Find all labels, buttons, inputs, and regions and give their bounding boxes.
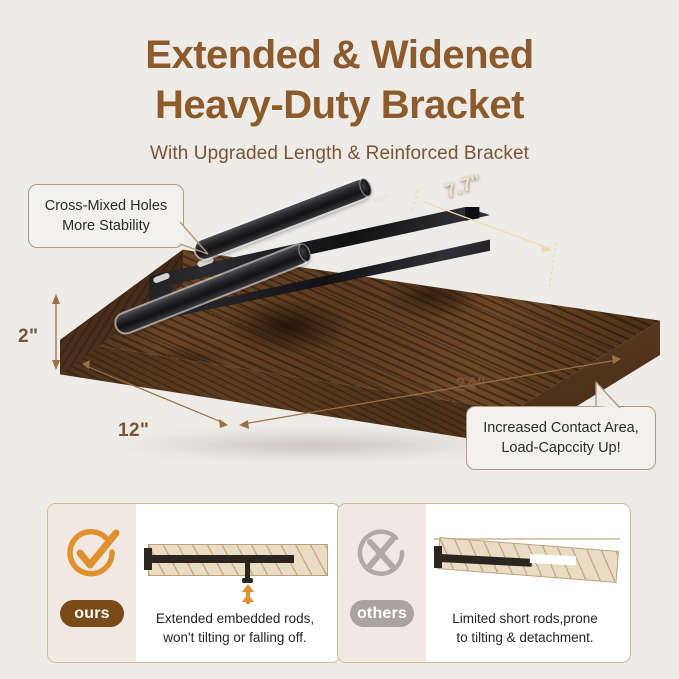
check-circle-icon [62,526,122,582]
dimension-label-thickness: 2" [18,326,38,348]
comparison-section: ours Extended embedded rods, won't tilti… [0,497,679,669]
dimension-label-depth: 12" [118,420,149,442]
comparison-panel-ours: ours Extended embedded rods, won't tilti… [47,503,341,663]
ours-screw-head [242,578,253,583]
callout-cross-mixed-holes: Cross-Mixed Holes More Stability [28,184,184,248]
callout-left-line-2: More Stability [42,216,170,236]
others-diagram [434,526,622,604]
ours-up-arrow-icon [240,584,256,604]
comparison-panel-others: others Limited short rods,prone to tilti… [337,503,631,663]
callout-left-line-1: Cross-Mixed Holes [42,196,170,216]
bracket-hole-icon [152,272,170,284]
ours-diagram [144,526,332,604]
page-title-line-2: Heavy-Duty Bracket [0,80,679,130]
bracket-hole-icon [372,192,390,204]
others-caption: Limited short rods,prone to tilting & de… [428,609,622,647]
x-circle-icon [352,526,412,582]
callout-right-line-2: Load-Capccity Up! [480,438,642,458]
header-block: Extended & Widened Heavy-Duty Bracket Wi… [0,30,679,165]
ours-caption: Extended embedded rods, won't tilting or… [138,609,332,647]
badge-others: others [350,600,414,627]
callout-left-tail [178,218,298,288]
others-caption-line-2: to tilting & detachment. [428,628,622,647]
others-caption-line-1: Limited short rods,prone [428,609,622,628]
callout-right-tail [586,368,676,428]
ours-caption-line-2: won't tilting or falling off. [138,628,332,647]
ours-caption-line-1: Extended embedded rods, [138,609,332,628]
infographic-canvas: Extended & Widened Heavy-Duty Bracket Wi… [0,0,679,679]
product-illustration: 2" 12" 24" 7.7" Cross-Mixed Holes More S… [0,170,679,480]
page-subtitle: With Upgraded Length & Reinforced Bracke… [0,143,679,165]
ours-embedded-rod [150,555,294,563]
rod-end-cap-icon [357,177,374,199]
badge-ours: ours [60,600,124,627]
dimension-label-width: 24" [455,375,486,397]
page-title-line-1: Extended & Widened [0,30,679,80]
